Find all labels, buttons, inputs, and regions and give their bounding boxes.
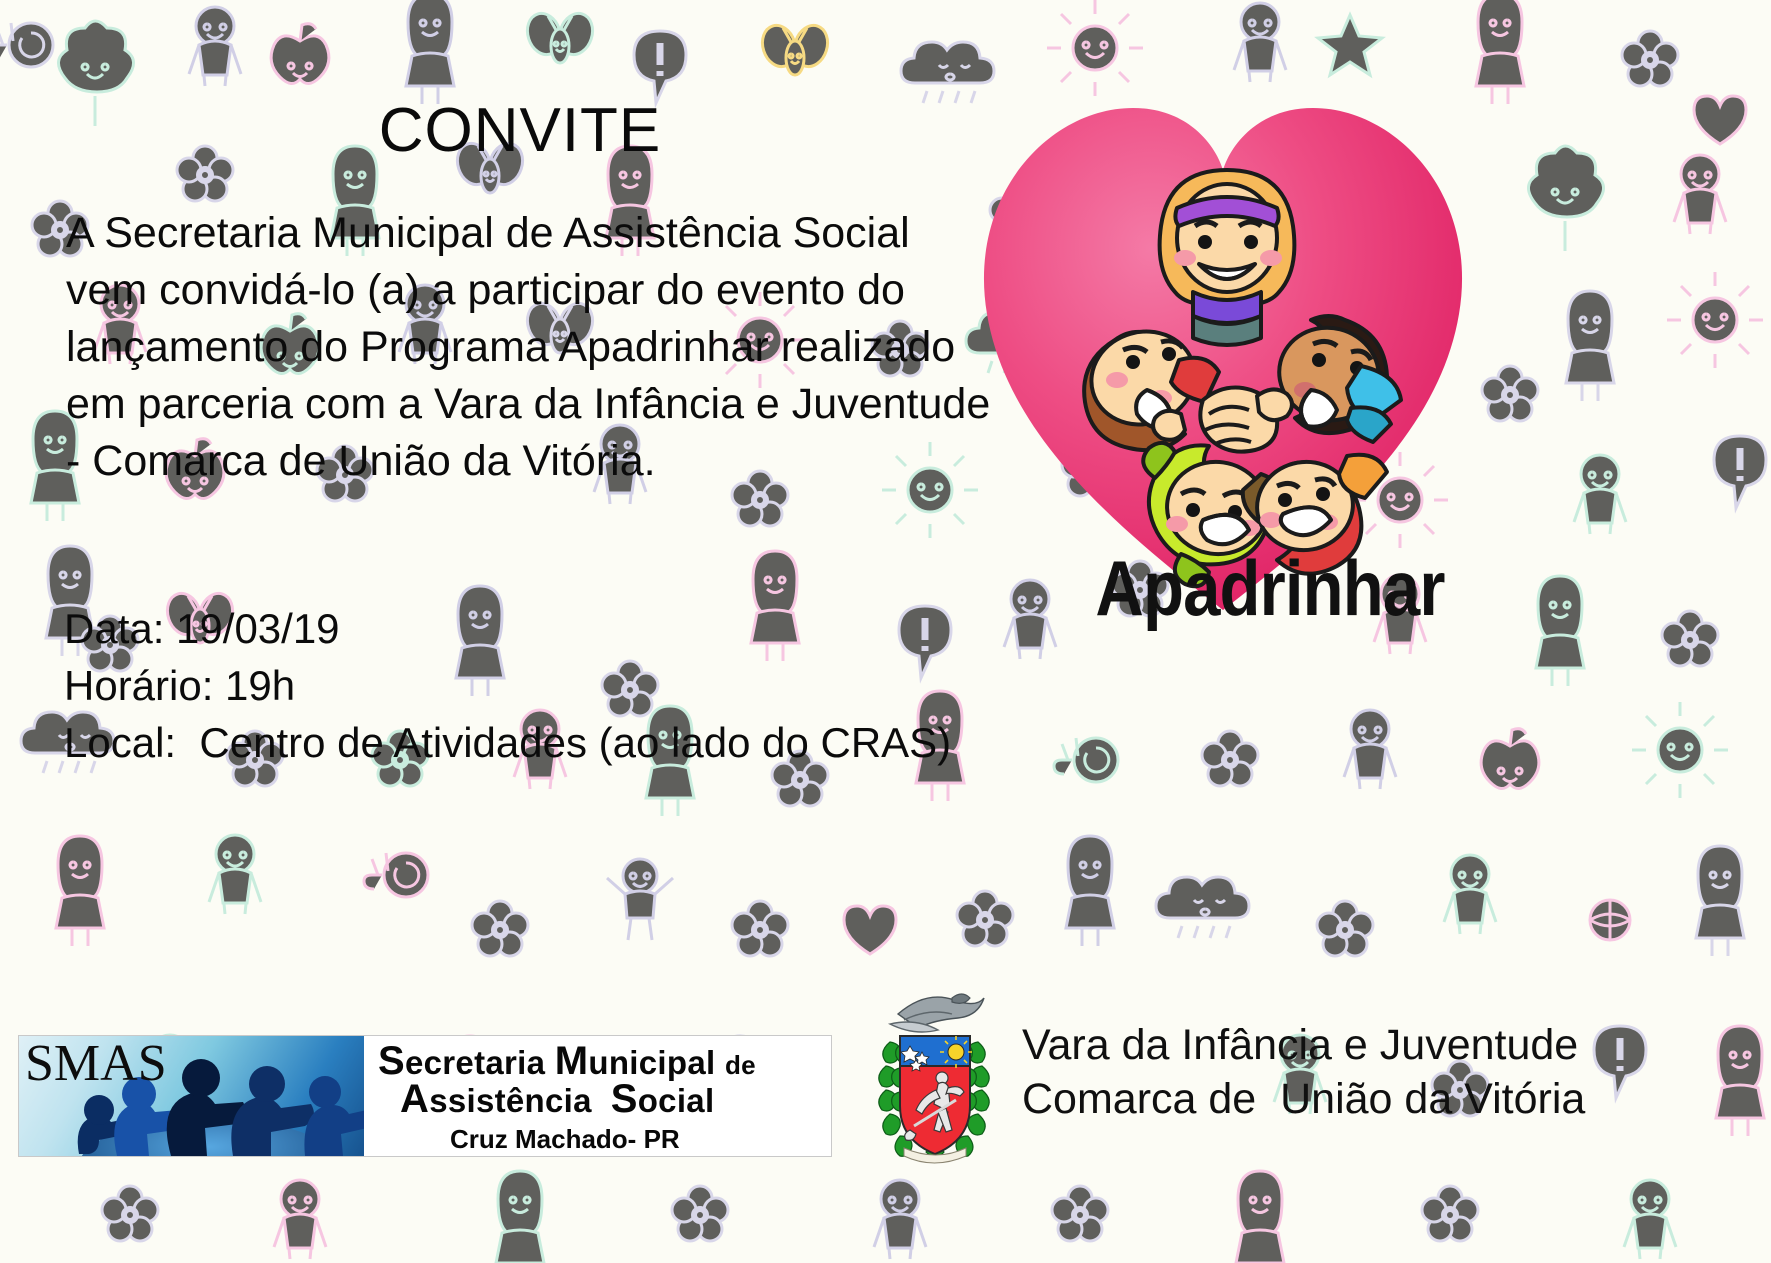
court-block: Vara da Infância e Juventude Comarca de … <box>860 980 1760 1170</box>
court-title-text: Vara da Infância e Juventude Comarca de … <box>1022 1018 1585 1126</box>
child-right <box>1269 316 1401 442</box>
program-wordmark: Apadrinhar <box>1089 548 1450 628</box>
invite-body-line: A Secretaria Municipal de Assistência So… <box>66 205 1026 262</box>
event-location: Local: Centro de Atividades (ao lado do … <box>64 714 1044 771</box>
smas-line-1: Secretaria Municipal de <box>378 1042 756 1084</box>
event-details: Data: 19/03/19 Horário: 19h Local: Centr… <box>64 600 1044 771</box>
condor <box>890 994 984 1032</box>
smas-emblem: SMAS <box>19 1036 364 1156</box>
smas-city: Cruz Machado- PR <box>450 1124 680 1155</box>
invite-body: A Secretaria Municipal de Assistência So… <box>66 205 1026 490</box>
invite-body-line: - Comarca de União da Vitória. <box>66 433 1026 490</box>
court-line-2: Comarca de União da Vitória <box>1022 1072 1585 1126</box>
parana-coat-of-arms-icon <box>860 980 1010 1170</box>
smas-logo-block: SMAS <box>18 1035 832 1157</box>
poster-canvas: CONVITE A Secretaria Municipal de Assist… <box>0 0 1771 1263</box>
invite-body-line: lançamento do Programa Apadrinhar realiz… <box>66 319 1026 376</box>
event-date: Data: 19/03/19 <box>64 600 1044 657</box>
court-line-1: Vara da Infância e Juventude <box>1022 1018 1585 1072</box>
invite-body-line: vem convidá-lo (a) a participar do event… <box>66 262 1026 319</box>
smas-line-2: Assistência Social <box>400 1080 714 1120</box>
page-title: CONVITE <box>0 95 1040 166</box>
child-top <box>1160 170 1295 345</box>
smas-title-text: Secretaria Municipal de Assistência Soci… <box>364 1036 831 1156</box>
event-time: Horário: 19h <box>64 657 1044 714</box>
invite-body-line: em parceria com a Vara da Infância e Juv… <box>66 376 1026 433</box>
shield <box>900 1036 972 1154</box>
smas-acronym: SMAS <box>25 1036 167 1093</box>
